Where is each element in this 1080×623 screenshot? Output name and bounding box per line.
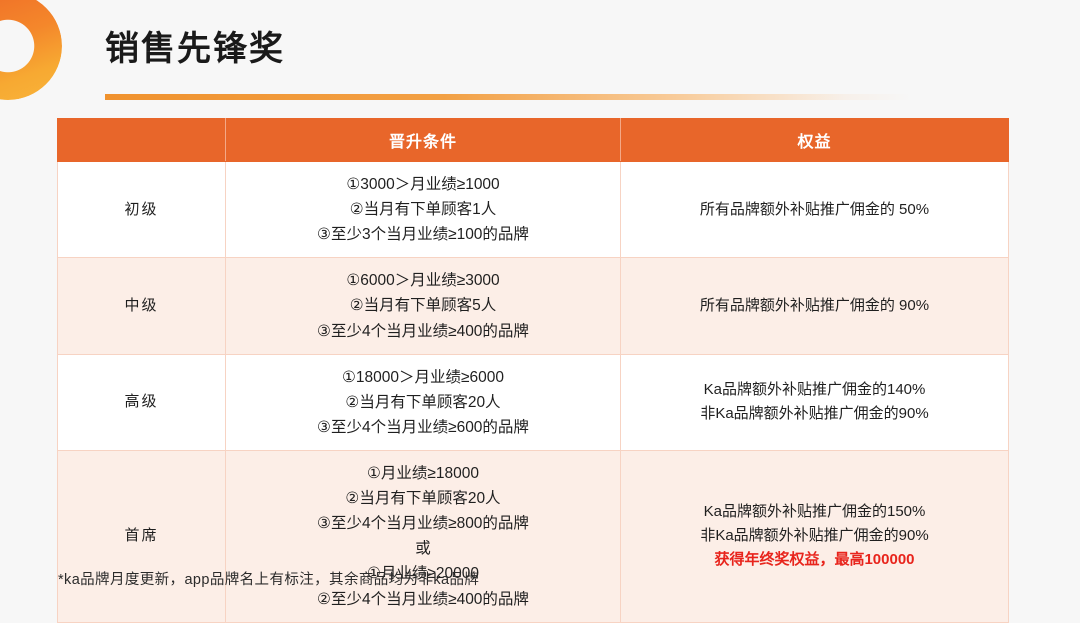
condition-cell: ①3000＞月业绩≥1000 ②当月有下单顾客1人 ③至少3个当月业绩≥100的… bbox=[226, 162, 621, 258]
condition-line: ②当月有下单顾客1人 bbox=[234, 197, 612, 222]
level-label: 高级 bbox=[58, 354, 226, 450]
condition-line: ①18000＞月业绩≥6000 bbox=[234, 365, 612, 390]
header-benefit: 权益 bbox=[621, 119, 1009, 162]
benefit-line: Ka品牌额外补贴推广佣金的150% bbox=[629, 500, 1000, 524]
title-underline bbox=[105, 94, 911, 100]
condition-line: ③至少4个当月业绩≥800的品牌 bbox=[234, 511, 612, 536]
benefit-line: 非Ka品牌额外补贴推广佣金的90% bbox=[629, 402, 1000, 426]
table-row: 首席 ①月业绩≥18000 ②当月有下单顾客20人 ③至少4个当月业绩≥800的… bbox=[58, 450, 1009, 622]
condition-line: ②当月有下单顾客5人 bbox=[234, 293, 612, 318]
condition-cell: ①月业绩≥18000 ②当月有下单顾客20人 ③至少4个当月业绩≥800的品牌 … bbox=[226, 450, 621, 622]
condition-line: ①月业绩≥18000 bbox=[234, 461, 612, 486]
table-header-row: 晋升条件 权益 bbox=[58, 119, 1009, 162]
condition-line: ②至少4个当月业绩≥400的品牌 bbox=[234, 587, 612, 612]
condition-separator: 或 bbox=[234, 536, 612, 561]
footnote: *ka品牌月度更新，app品牌名上有标注，其余商品均为非ka品牌 bbox=[58, 568, 479, 589]
condition-line: ①3000＞月业绩≥1000 bbox=[234, 172, 612, 197]
condition-line: ①6000＞月业绩≥3000 bbox=[234, 268, 612, 293]
table-row: 中级 ①6000＞月业绩≥3000 ②当月有下单顾客5人 ③至少4个当月业绩≥4… bbox=[58, 258, 1009, 354]
benefit-highlight-line: 获得年终奖权益，最高100000 bbox=[629, 548, 1000, 572]
benefit-line: 所有品牌额外补贴推广佣金的 50% bbox=[629, 198, 1000, 222]
table-row: 高级 ①18000＞月业绩≥6000 ②当月有下单顾客20人 ③至少4个当月业绩… bbox=[58, 354, 1009, 450]
benefit-cell: Ka品牌额外补贴推广佣金的150% 非Ka品牌额外补贴推广佣金的90% 获得年终… bbox=[621, 450, 1009, 622]
promotion-table-container: 晋升条件 权益 初级 ①3000＞月业绩≥1000 ②当月有下单顾客1人 ③至少… bbox=[57, 118, 1008, 623]
header-condition: 晋升条件 bbox=[226, 119, 621, 162]
table-row: 初级 ①3000＞月业绩≥1000 ②当月有下单顾客1人 ③至少3个当月业绩≥1… bbox=[58, 162, 1009, 258]
page-title: 销售先锋奖 bbox=[105, 29, 285, 70]
ring-donut-icon bbox=[0, 0, 62, 100]
benefit-cell: 所有品牌额外补贴推广佣金的 50% bbox=[621, 162, 1009, 258]
header-level bbox=[58, 119, 226, 162]
level-label: 中级 bbox=[58, 258, 226, 354]
promotion-table: 晋升条件 权益 初级 ①3000＞月业绩≥1000 ②当月有下单顾客1人 ③至少… bbox=[57, 118, 1009, 623]
level-label: 首席 bbox=[58, 450, 226, 622]
benefit-line: 所有品牌额外补贴推广佣金的 90% bbox=[629, 294, 1000, 318]
condition-line: ③至少4个当月业绩≥400的品牌 bbox=[234, 319, 612, 344]
condition-line: ②当月有下单顾客20人 bbox=[234, 486, 612, 511]
benefit-line: 非Ka品牌额外补贴推广佣金的90% bbox=[629, 524, 1000, 548]
condition-line: ③至少3个当月业绩≥100的品牌 bbox=[234, 222, 612, 247]
benefit-cell: Ka品牌额外补贴推广佣金的140% 非Ka品牌额外补贴推广佣金的90% bbox=[621, 354, 1009, 450]
level-label: 初级 bbox=[58, 162, 226, 258]
benefit-cell: 所有品牌额外补贴推广佣金的 90% bbox=[621, 258, 1009, 354]
condition-line: ②当月有下单顾客20人 bbox=[234, 390, 612, 415]
condition-line: ③至少4个当月业绩≥600的品牌 bbox=[234, 415, 612, 440]
benefit-line: Ka品牌额外补贴推广佣金的140% bbox=[629, 378, 1000, 402]
condition-cell: ①6000＞月业绩≥3000 ②当月有下单顾客5人 ③至少4个当月业绩≥400的… bbox=[226, 258, 621, 354]
condition-cell: ①18000＞月业绩≥6000 ②当月有下单顾客20人 ③至少4个当月业绩≥60… bbox=[226, 354, 621, 450]
